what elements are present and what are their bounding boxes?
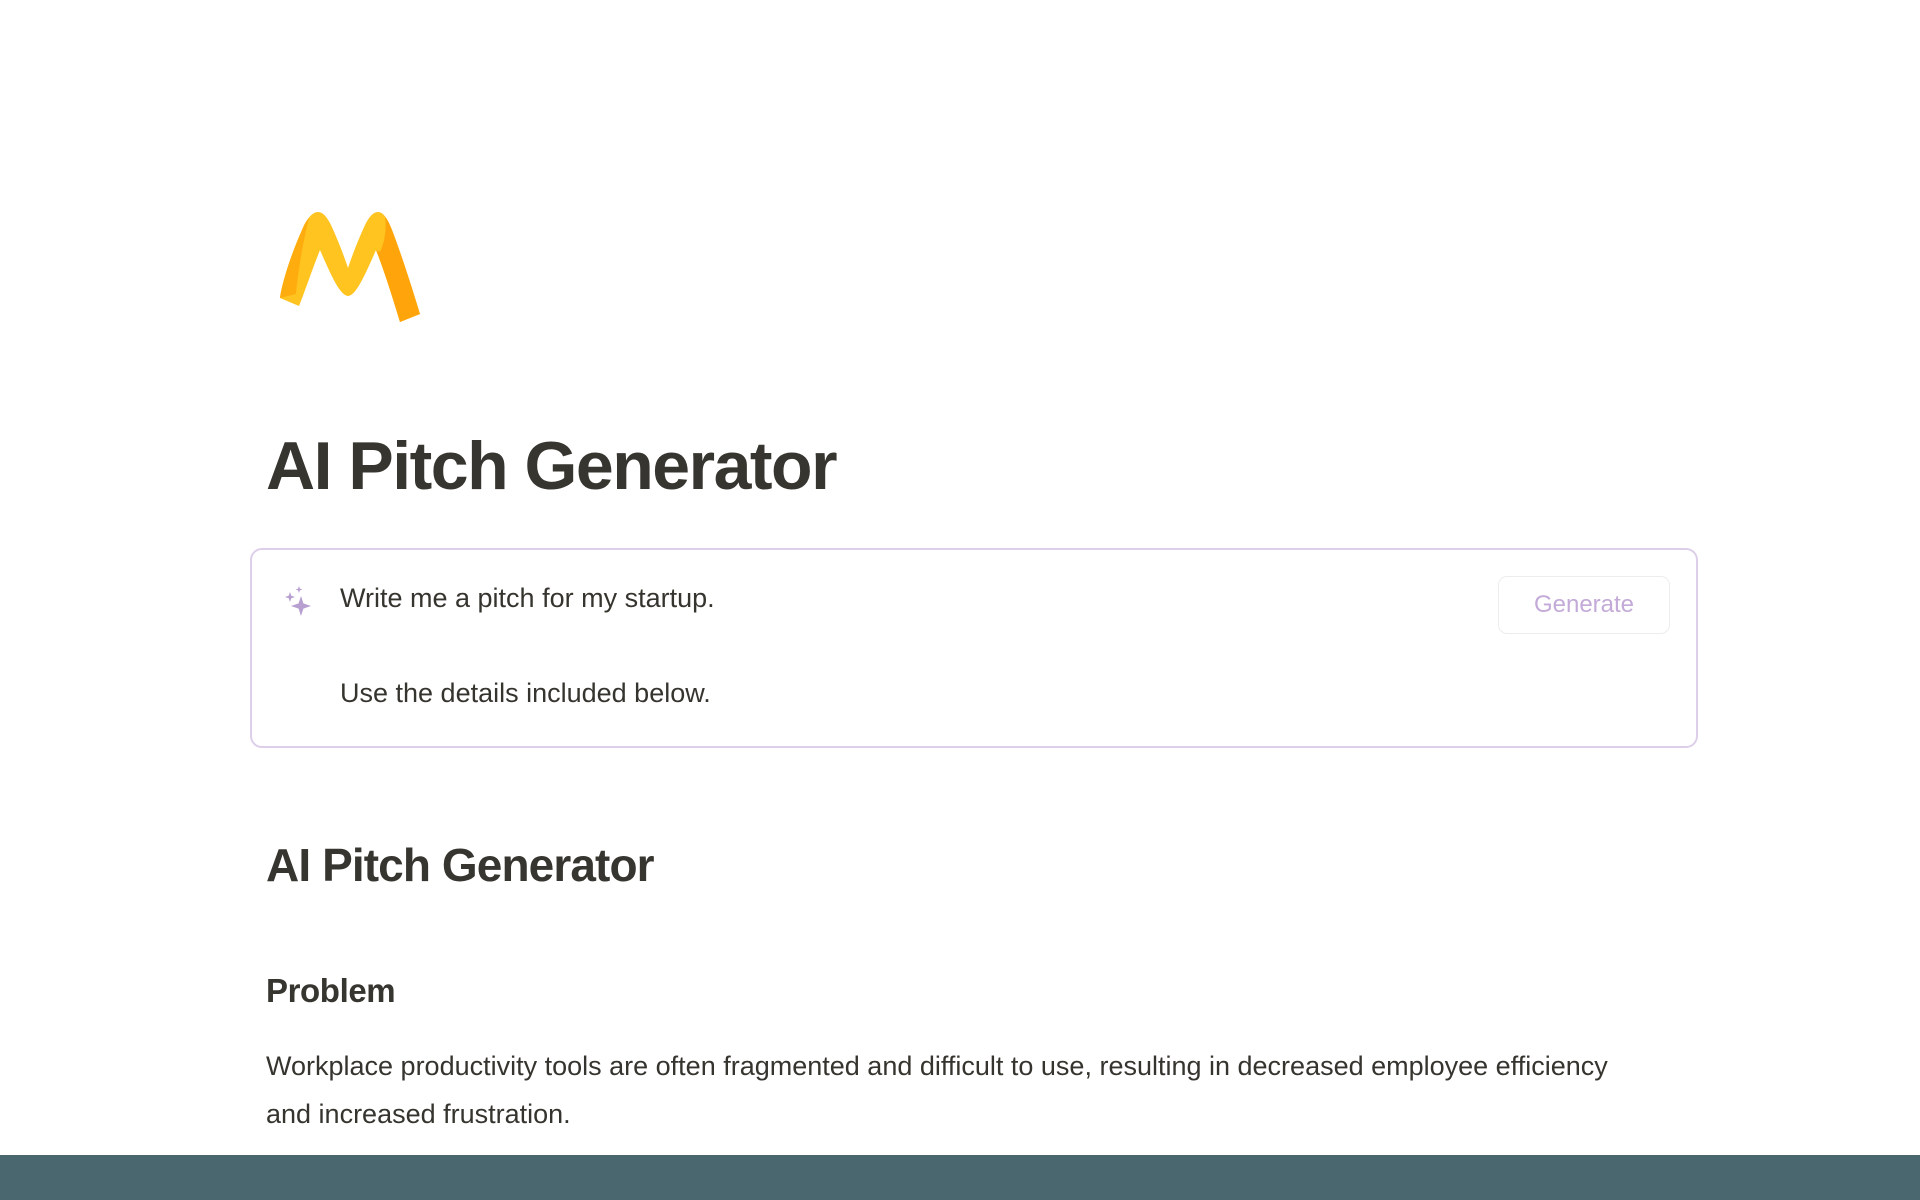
section-body-problem: Workplace productivity tools are often f… — [266, 1042, 1636, 1138]
document-title: AI Pitch Generator — [266, 840, 1666, 891]
prompt-first-row: Write me a pitch for my startup. — [280, 578, 715, 622]
prompt-card[interactable]: Write me a pitch for my startup. Use the… — [250, 548, 1698, 748]
app-page: AI Pitch Generator Write me a pitch for … — [0, 0, 1920, 1200]
generate-button[interactable]: Generate — [1498, 576, 1670, 634]
document-content: AI Pitch Generator Problem Workplace pro… — [266, 840, 1666, 891]
section-heading-problem: Problem — [266, 972, 395, 1010]
prompt-line-1: Write me a pitch for my startup. — [340, 578, 715, 618]
prompt-line-2: Use the details included below. — [340, 675, 711, 711]
page-title: AI Pitch Generator — [266, 432, 836, 500]
bottom-status-bar — [0, 1155, 1920, 1200]
sparkle-icon — [280, 582, 320, 622]
marker-m-logo-icon — [268, 190, 428, 330]
